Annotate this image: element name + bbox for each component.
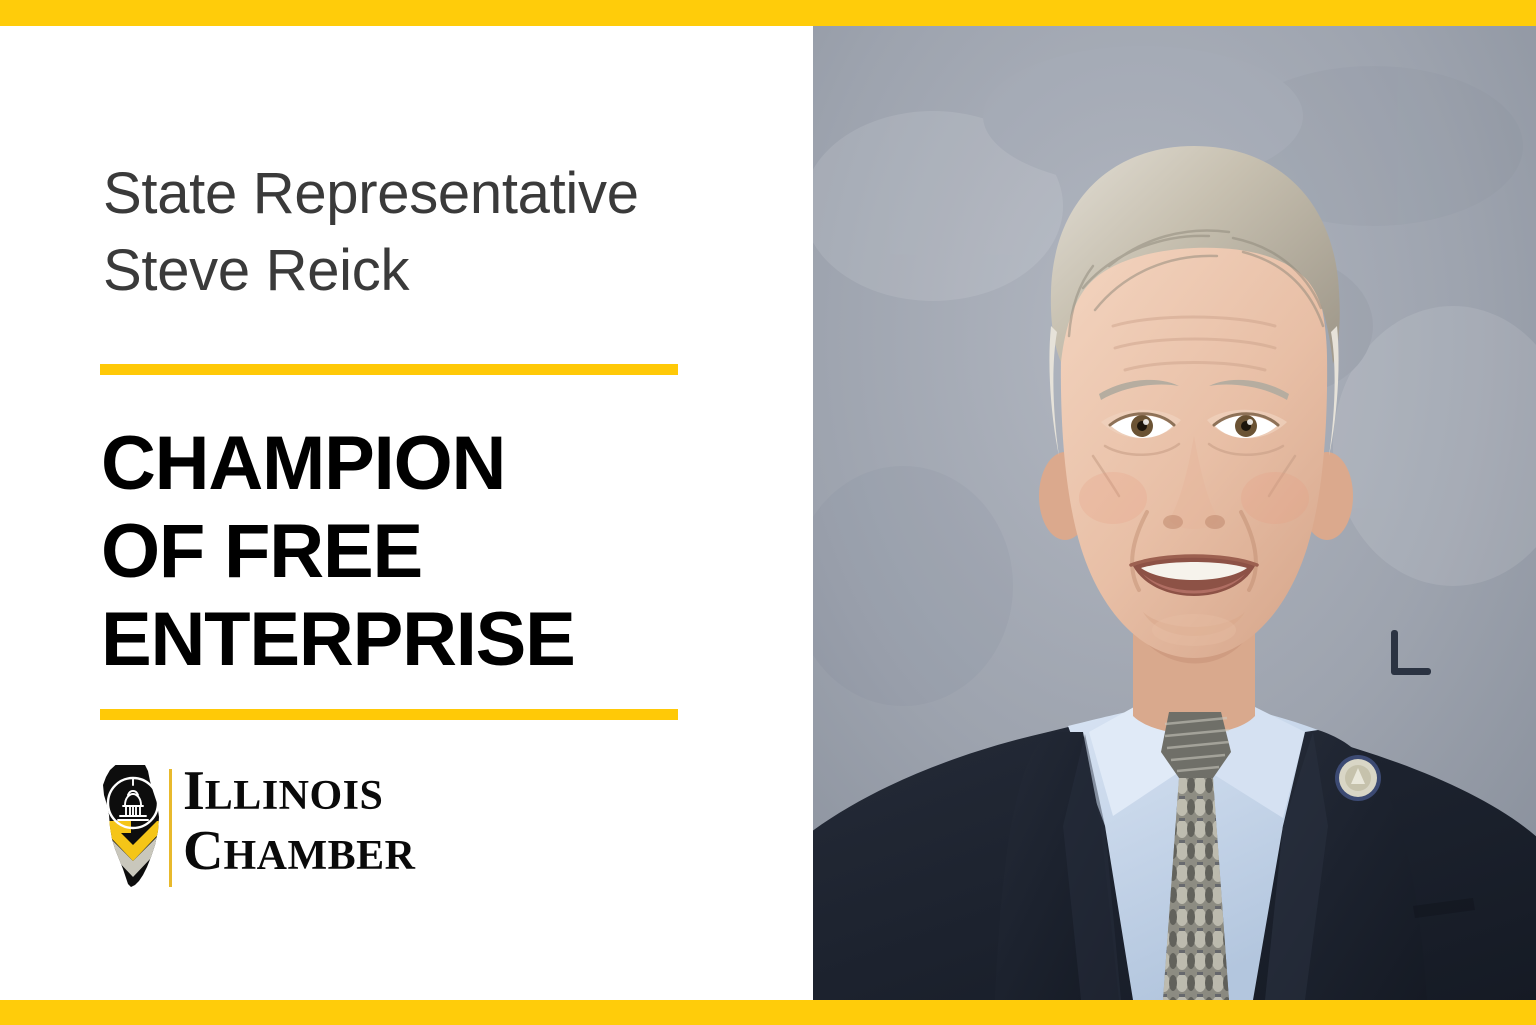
portrait-photo bbox=[813, 26, 1536, 1000]
subject-title-line-2: Steve Reick bbox=[103, 233, 743, 310]
headline-line-3: ENTERPRISE bbox=[101, 596, 761, 684]
divider-rule-top bbox=[100, 364, 678, 375]
logo-divider-line bbox=[169, 769, 172, 887]
bottom-accent-bar bbox=[0, 1000, 1536, 1025]
top-accent-bar bbox=[0, 0, 1536, 26]
headline-line-2: OF FREE bbox=[101, 508, 761, 596]
headline: CHAMPION OF FREE ENTERPRISE bbox=[101, 420, 761, 684]
subject-title-line-1: State Representative bbox=[103, 156, 743, 233]
award-graphic: State Representative Steve Reick CHAMPIO… bbox=[0, 0, 1536, 1025]
logo-word-chamber: CHAMBER bbox=[183, 823, 503, 879]
logo-chamber-initial: C bbox=[183, 820, 223, 882]
headline-line-1: CHAMPION bbox=[101, 420, 761, 508]
logo-wordmark: ILLINOIS CHAMBER bbox=[183, 763, 503, 879]
illinois-state-capitol-icon bbox=[101, 761, 173, 889]
logo-word-illinois: ILLINOIS bbox=[183, 763, 503, 819]
logo-illinois-initial: I bbox=[183, 760, 205, 822]
lapel-pin-shape bbox=[1335, 755, 1381, 801]
logo-illinois-rest: LLINOIS bbox=[205, 773, 384, 819]
divider-rule-bottom bbox=[100, 709, 678, 720]
left-text-panel: State Representative Steve Reick CHAMPIO… bbox=[0, 26, 813, 1000]
logo-chamber-rest: HAMBER bbox=[223, 833, 415, 879]
subject-title: State Representative Steve Reick bbox=[103, 156, 743, 309]
illinois-chamber-logo: ILLINOIS CHAMBER bbox=[101, 761, 501, 893]
